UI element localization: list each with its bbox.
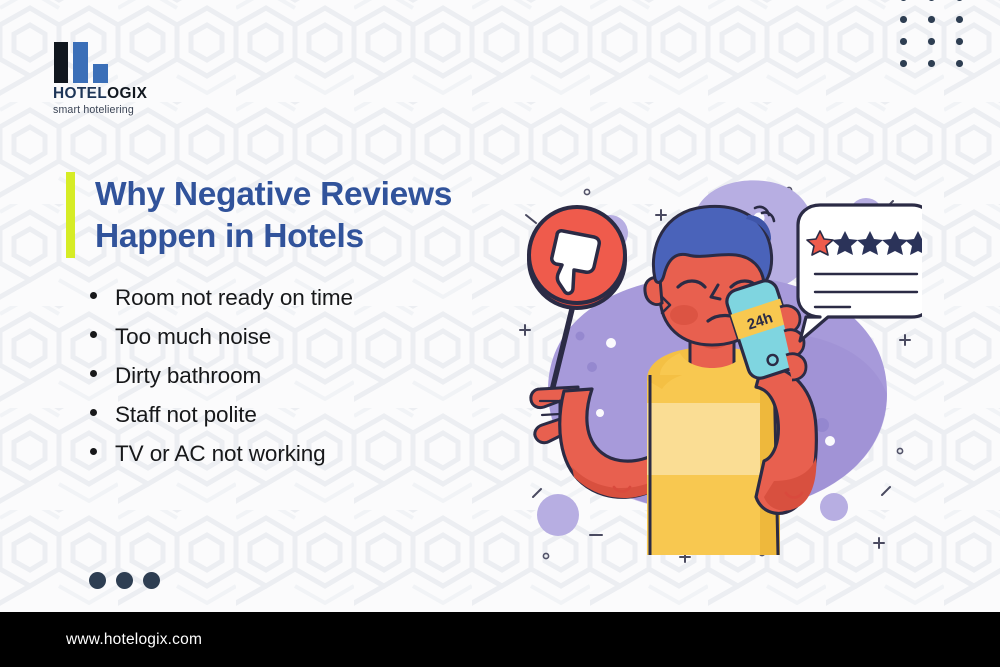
thumbs-down-sign	[529, 207, 625, 308]
headline-block: Why Negative Reviews Happen in Hotels	[66, 172, 452, 258]
bullet-dot-icon	[90, 409, 97, 416]
grid-dot	[900, 60, 907, 67]
grid-dot	[928, 38, 935, 45]
list-item-label: Staff not polite	[115, 404, 257, 427]
logo-wordmark: HOTELOGIX	[53, 86, 188, 103]
deco-dot	[89, 572, 106, 589]
page-title: Why Negative Reviews Happen in Hotels	[95, 172, 452, 258]
grid-dot	[956, 38, 963, 45]
list-item-label: Too much noise	[115, 326, 271, 349]
brand-logo[interactable]: HOTELOGIX smart hoteliering	[53, 42, 188, 116]
bullet-dot-icon	[90, 448, 97, 455]
review-speech-bubble	[798, 205, 922, 341]
list-item: Too much noise	[90, 326, 353, 349]
grid-dot	[928, 0, 935, 1]
list-item: Dirty bathroom	[90, 365, 353, 388]
logo-word-primary: HOTEL	[53, 85, 107, 102]
footer-website-url[interactable]: www.hotelogix.com	[66, 631, 202, 649]
decorative-three-dots	[89, 572, 160, 589]
list-item-label: Dirty bathroom	[115, 365, 261, 388]
deco-dot	[116, 572, 133, 589]
grid-dot	[956, 60, 963, 67]
decorative-dot-grid	[900, 0, 984, 82]
list-item: Staff not polite	[90, 404, 353, 427]
poster-canvas: HOTELOGIX smart hoteliering Why Negative…	[0, 0, 1000, 667]
list-item: TV or AC not working	[90, 443, 353, 466]
bullet-dot-icon	[90, 292, 97, 299]
bullet-dot-icon	[90, 331, 97, 338]
logo-word-secondary: OGIX	[107, 85, 147, 102]
unhappy-guest-phone-call-illustration: 24h	[512, 175, 922, 585]
list-item-label: TV or AC not working	[115, 443, 326, 466]
grid-dot	[956, 16, 963, 23]
grid-dot	[928, 60, 935, 67]
list-item-label: Room not ready on time	[115, 287, 353, 310]
bullet-dot-icon	[90, 370, 97, 377]
grid-dot	[900, 16, 907, 23]
logo-tagline: smart hoteliering	[53, 104, 188, 116]
footer-bar: www.hotelogix.com	[0, 612, 1000, 667]
grid-dot	[900, 38, 907, 45]
grid-dot	[900, 0, 907, 1]
grid-dot	[928, 16, 935, 23]
list-item: Room not ready on time	[90, 287, 353, 310]
deco-dot	[143, 572, 160, 589]
reasons-list: Room not ready on time Too much noise Di…	[90, 287, 353, 482]
logo-bars-icon	[54, 42, 110, 83]
headline-accent-bar	[66, 172, 75, 258]
grid-dot	[956, 0, 963, 1]
